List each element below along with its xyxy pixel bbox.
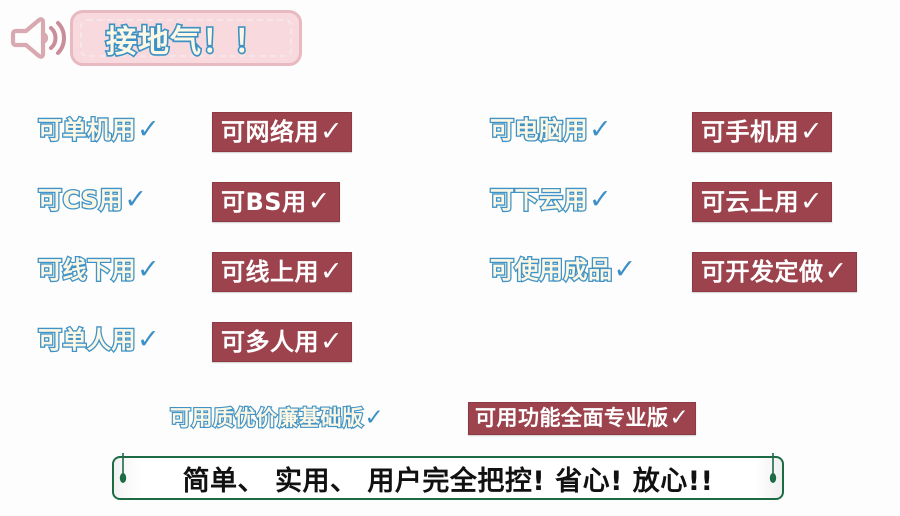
feature-item-offline: 可线下用✓ [38, 252, 160, 287]
feature-item-finished-product: 可使用成品✓ [490, 252, 637, 287]
feature-item-bs: 可BS用✓ [212, 182, 340, 222]
feature-label: 可下云用 [490, 186, 588, 214]
check-icon: ✓ [365, 405, 385, 431]
feature-row: 可单人用✓ 可多人用✓ [0, 322, 900, 392]
check-icon: ✓ [320, 326, 343, 357]
feature-label: 可多人用 [221, 328, 319, 356]
feature-item-offcloud: 可下云用✓ [490, 182, 612, 217]
feature-row: 可单机用✓ 可网络用✓ 可电脑用✓ 可手机用✓ [0, 112, 900, 182]
feature-item-cs: 可CS用✓ [38, 182, 147, 217]
feature-chip-plain: 可CS用✓ [38, 182, 147, 217]
feature-chip-badge: 可多人用✓ [212, 322, 352, 362]
feature-chip-plain: 可使用成品✓ [490, 252, 637, 287]
feature-chip-badge: 可BS用✓ [212, 182, 340, 222]
feature-item-computer: 可电脑用✓ [490, 112, 612, 147]
feature-chip-plain: 可单人用✓ [38, 322, 160, 357]
banner-text: 简单、 实用、 用户完全把控! 省心! 放心!! [183, 459, 714, 498]
feature-label: 可线下用 [38, 256, 136, 284]
feature-chip-badge: 可开发定做✓ [692, 252, 857, 292]
feature-row: 可线下用✓ 可线上用✓ 可使用成品✓ 可开发定做✓ [0, 252, 900, 322]
title-badge: 接地气！！ [70, 10, 302, 66]
edition-label: 可用质优价廉基础版 [170, 406, 364, 430]
check-icon: ✓ [137, 114, 160, 145]
check-icon: ✓ [800, 186, 823, 217]
check-icon: ✓ [670, 405, 690, 431]
feature-chip-plain: 可下云用✓ [490, 182, 612, 217]
feature-item-custom-development: 可开发定做✓ [692, 252, 857, 292]
check-icon: ✓ [137, 324, 160, 355]
feature-label: 可单机用 [38, 116, 136, 144]
feature-label: 可BS用 [221, 188, 307, 216]
banner-box: 简单、 实用、 用户完全把控! 省心! 放心!! [112, 456, 784, 500]
check-icon: ✓ [589, 114, 612, 145]
check-icon: ✓ [825, 256, 848, 287]
feature-chip-plain: 可单机用✓ [38, 112, 160, 147]
check-icon: ✓ [800, 116, 823, 147]
edition-row: 可用质优价廉基础版✓ 可用功能全面专业版✓ [0, 405, 900, 445]
edition-label: 可用功能全面专业版 [475, 406, 669, 430]
check-icon: ✓ [320, 116, 343, 147]
feature-item-network: 可网络用✓ [212, 112, 352, 152]
edition-item-basic: 可用质优价廉基础版✓ [170, 407, 384, 430]
edition-chip-plain: 可用质优价廉基础版✓ [170, 402, 384, 434]
feature-chip-badge: 可线上用✓ [212, 252, 352, 292]
feature-item-oncloud: 可云上用✓ [692, 182, 832, 222]
page-title: 接地气！！ [106, 16, 266, 61]
feature-row: 可CS用✓ 可BS用✓ 可下云用✓ 可云上用✓ [0, 182, 900, 252]
feature-label: 可网络用 [221, 118, 319, 146]
feature-item-multi-user: 可多人用✓ [212, 322, 352, 362]
feature-label: 可开发定做 [701, 258, 824, 286]
feature-chip-badge: 可云上用✓ [692, 182, 832, 222]
check-icon: ✓ [589, 184, 612, 215]
feature-item-single-user: 可单人用✓ [38, 322, 160, 357]
feature-item-mobile: 可手机用✓ [692, 112, 832, 152]
feature-label: 可云上用 [701, 188, 799, 216]
edition-chip-badge: 可用功能全面专业版✓ [468, 402, 696, 435]
edition-item-professional: 可用功能全面专业版✓ [468, 407, 696, 430]
feature-chip-plain: 可线下用✓ [38, 252, 160, 287]
bottom-banner: 简单、 实用、 用户完全把控! 省心! 放心!! [112, 452, 784, 502]
feature-label: 可使用成品 [490, 256, 613, 284]
feature-label: 可单人用 [38, 326, 136, 354]
feature-item-online: 可线上用✓ [212, 252, 352, 292]
check-icon: ✓ [308, 186, 331, 217]
speaker-volume-icon [6, 12, 68, 64]
feature-label: 可手机用 [701, 118, 799, 146]
check-icon: ✓ [614, 254, 637, 285]
feature-chip-plain: 可电脑用✓ [490, 112, 612, 147]
check-icon: ✓ [320, 256, 343, 287]
check-icon: ✓ [124, 184, 147, 215]
feature-label: 可CS用 [38, 186, 123, 214]
feature-chip-badge: 可手机用✓ [692, 112, 832, 152]
feature-item-single-machine: 可单机用✓ [38, 112, 160, 147]
feature-chip-badge: 可网络用✓ [212, 112, 352, 152]
feature-label: 可电脑用 [490, 116, 588, 144]
feature-grid: 可单机用✓ 可网络用✓ 可电脑用✓ 可手机用✓ 可CS用✓ 可BS用✓ 可下云用… [0, 112, 900, 392]
header-title-row: 接地气！！ [6, 10, 302, 66]
feature-label: 可线上用 [221, 258, 319, 286]
check-icon: ✓ [137, 254, 160, 285]
